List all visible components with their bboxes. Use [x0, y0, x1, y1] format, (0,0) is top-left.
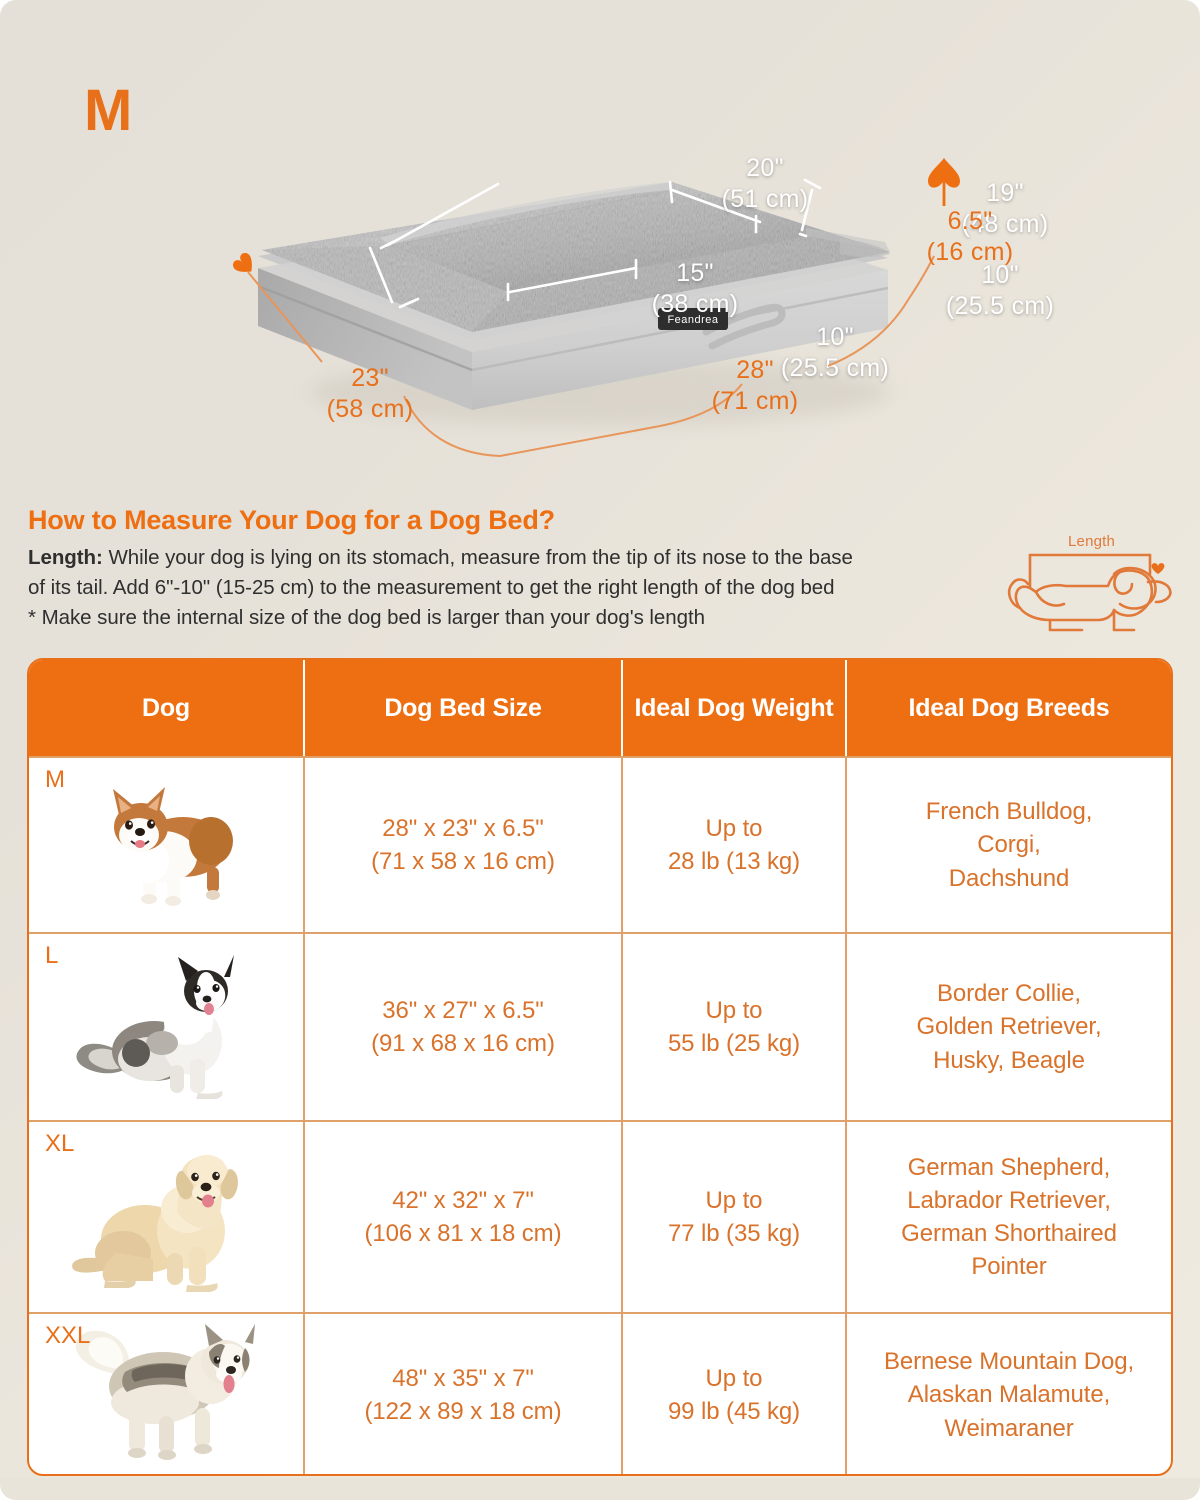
weight-prefix: Up to	[668, 994, 800, 1027]
corgi-photo	[71, 775, 261, 915]
cell-bed-size: 28" x 23" x 6.5" (71 x 58 x 16 cm)	[305, 758, 623, 932]
cell-bed-size: 42" x 32" x 7" (106 x 81 x 18 cm)	[305, 1122, 623, 1312]
measure-body: Length: While your dog is lying on its s…	[28, 543, 978, 633]
column-header-bed-size: Dog Bed Size	[305, 660, 623, 756]
bottom-strip	[0, 1478, 1200, 1500]
cell-dog-photo: L	[29, 934, 305, 1120]
breed-line: Border Collie,	[916, 977, 1101, 1010]
bed-size-imperial: 36" x 27" x 6.5"	[371, 994, 555, 1027]
column-header-weight: Ideal Dog Weight	[623, 660, 847, 756]
breed-line: Pointer	[901, 1250, 1117, 1283]
size-label: M	[45, 768, 65, 792]
bed-size-metric: (71 x 58 x 16 cm)	[371, 845, 555, 878]
labrador-photo	[61, 1135, 271, 1300]
cell-weight: Up to 77 lb (35 kg)	[623, 1122, 847, 1312]
weight-value: 99 lb (45 kg)	[668, 1395, 800, 1428]
cell-bed-size: 48" x 35" x 7" (122 x 89 x 18 cm)	[305, 1314, 623, 1476]
measure-title: How to Measure Your Dog for a Dog Bed?	[28, 505, 555, 536]
breed-line: German Shepherd,	[901, 1151, 1117, 1184]
malamute-photo	[59, 1320, 274, 1470]
table-row: XXL	[29, 1312, 1171, 1476]
breed-line: Weimaraner	[884, 1412, 1134, 1445]
cell-breeds: German Shepherd, Labrador Retriever, Ger…	[847, 1122, 1171, 1312]
breed-line: Golden Retriever,	[916, 1010, 1101, 1043]
external-dimension-height: 6.5" (16 cm)	[900, 206, 1040, 267]
bed-size-imperial: 48" x 35" x 7"	[365, 1362, 562, 1395]
heart-icon	[1152, 563, 1165, 574]
infographic-page: M	[0, 0, 1200, 1500]
weight-prefix: Up to	[668, 812, 800, 845]
weight-value: 55 lb (25 kg)	[668, 1027, 800, 1060]
table-row: XL	[29, 1120, 1171, 1312]
breed-line: Alaskan Malamute,	[884, 1378, 1134, 1411]
dog-length-diagram	[1002, 512, 1188, 642]
measure-line-1-text: While your dog is lying on its stomach, …	[103, 546, 853, 569]
bed-size-metric: (91 x 68 x 16 cm)	[371, 1027, 555, 1060]
dog-outline-icon	[1002, 512, 1188, 642]
breed-line: German Shorthaired	[901, 1217, 1117, 1250]
cell-breeds: French Bulldog, Corgi, Dachshund	[847, 758, 1171, 932]
bed-size-metric: (122 x 89 x 18 cm)	[365, 1395, 562, 1428]
product-hero: M	[0, 0, 1200, 490]
measure-line-3: * Make sure the internal size of the dog…	[28, 603, 978, 633]
size-label: XXL	[45, 1324, 90, 1348]
breed-line: Dachshund	[926, 862, 1093, 895]
weight-value: 28 lb (13 kg)	[668, 845, 800, 878]
measure-line-2: of its tail. Add 6"-10" (15-25 cm) to th…	[28, 573, 978, 603]
weight-prefix: Up to	[668, 1184, 800, 1217]
cell-bed-size: 36" x 27" x 6.5" (91 x 68 x 16 cm)	[305, 934, 623, 1120]
column-header-breeds: Ideal Dog Breeds	[847, 660, 1171, 756]
size-label: XL	[45, 1132, 74, 1156]
column-header-dog: Dog	[29, 660, 305, 756]
weight-prefix: Up to	[668, 1362, 800, 1395]
breed-line: Labrador Retriever,	[901, 1184, 1117, 1217]
size-label: L	[45, 944, 58, 968]
border-collie-photo	[66, 947, 266, 1107]
external-dimension-width: 23" (58 cm)	[300, 363, 440, 424]
table-row: M	[29, 756, 1171, 932]
bed-size-imperial: 28" x 23" x 6.5"	[371, 812, 555, 845]
table-row: L	[29, 932, 1171, 1120]
size-comparison-table: Dog Dog Bed Size Ideal Dog Weight Ideal …	[27, 658, 1173, 1476]
bed-size-imperial: 42" x 32" x 7"	[365, 1184, 562, 1217]
breed-line: French Bulldog,	[926, 795, 1093, 828]
cell-weight: Up to 99 lb (45 kg)	[623, 1314, 847, 1476]
cell-weight: Up to 28 lb (13 kg)	[623, 758, 847, 932]
weight-value: 77 lb (35 kg)	[668, 1217, 800, 1250]
external-dimension-length: 28" (71 cm)	[680, 355, 830, 416]
heart-marker-height	[928, 158, 960, 206]
cell-dog-photo: XXL	[29, 1314, 305, 1476]
measure-line-1: Length: While your dog is lying on its s…	[28, 543, 978, 573]
breed-line: Corgi,	[926, 828, 1093, 861]
length-diagram-label: Length	[1068, 533, 1115, 550]
cell-dog-photo: M	[29, 758, 305, 932]
heart-marker-left	[231, 251, 259, 279]
cell-weight: Up to 55 lb (25 kg)	[623, 934, 847, 1120]
cell-breeds: Border Collie, Golden Retriever, Husky, …	[847, 934, 1171, 1120]
breed-line: Bernese Mountain Dog,	[884, 1345, 1134, 1378]
measure-label: Length:	[28, 546, 103, 569]
cell-breeds: Bernese Mountain Dog, Alaskan Malamute, …	[847, 1314, 1171, 1476]
table-header-row: Dog Dog Bed Size Ideal Dog Weight Ideal …	[29, 660, 1171, 756]
breed-line: Husky, Beagle	[916, 1044, 1101, 1077]
bed-size-metric: (106 x 81 x 18 cm)	[365, 1217, 562, 1250]
cell-dog-photo: XL	[29, 1122, 305, 1312]
